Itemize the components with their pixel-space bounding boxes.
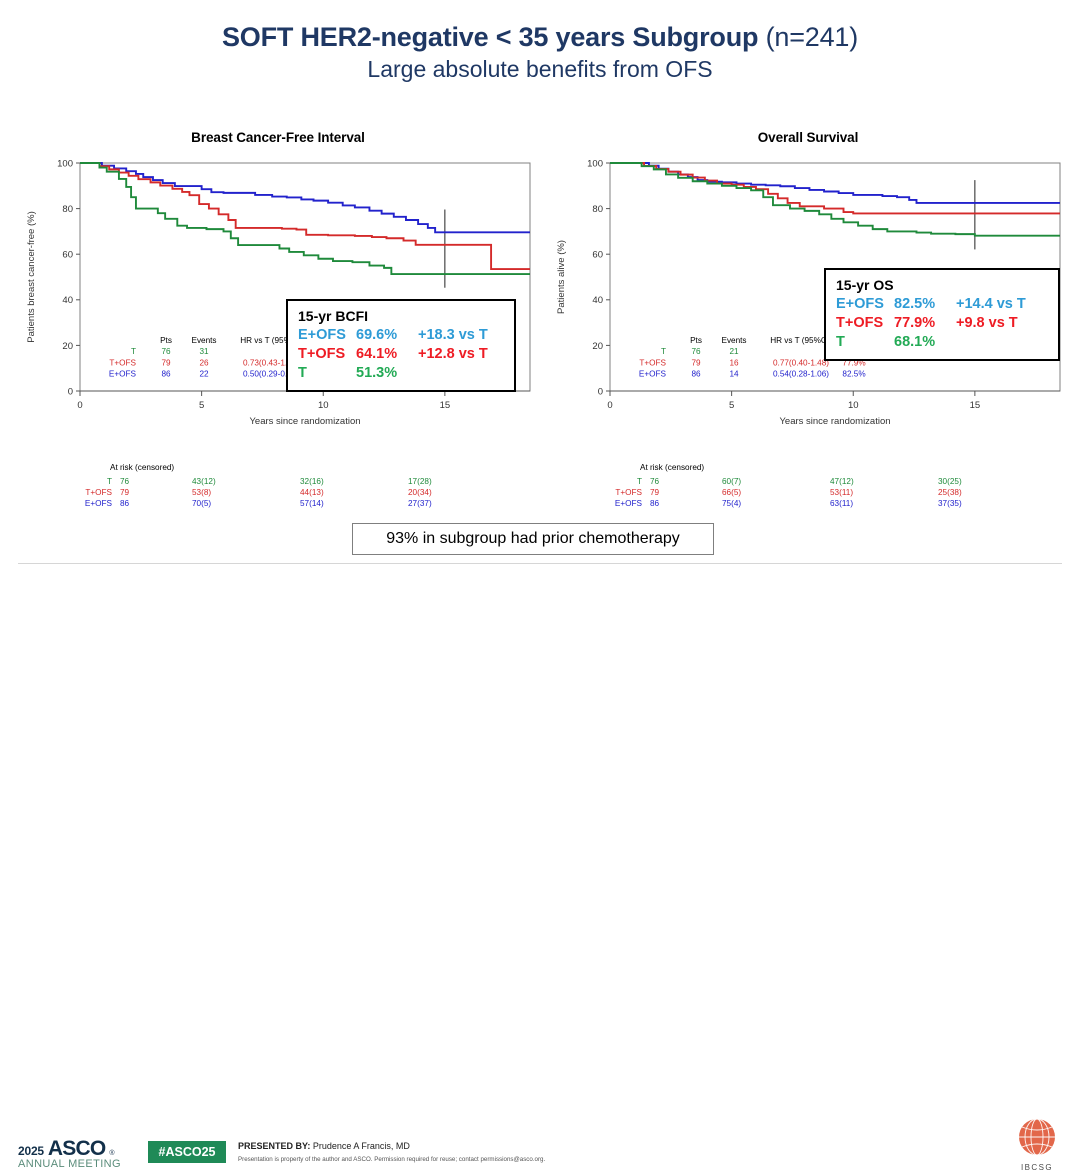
svg-text:10: 10	[318, 400, 329, 411]
at-risk-cell: 43(12)	[192, 476, 216, 487]
chemotherapy-note-banner: 93% in subgroup had prior chemotherapy	[352, 523, 714, 555]
svg-text:E+OFS: E+OFS	[639, 370, 667, 379]
callout-arm-label: T	[298, 364, 356, 383]
at-risk-cell: 44(13)	[300, 487, 324, 498]
callout-arm-delta: +9.8 vs T	[956, 314, 1048, 333]
at-risk-row: E+OFS 86 70(5) 57(14) 27(37)	[70, 498, 510, 509]
callout-arm-value: 69.6%	[356, 326, 418, 345]
page-subtitle: Large absolute benefits from OFS	[0, 54, 1080, 84]
slide-title-block: SOFT HER2-negative < 35 years Subgroup (…	[0, 20, 1080, 84]
callout-row: E+OFS 69.6% +18.3 vs T	[298, 326, 504, 345]
callout-arm-value: 82.5%	[894, 295, 956, 314]
at-risk-cell: 30(25)	[938, 476, 962, 487]
at-risk-cell: 79	[650, 487, 659, 498]
at-risk-cell: 75(4)	[722, 498, 741, 509]
at-risk-table-os: At risk (censored) T 76 60(7) 47(12) 30(…	[600, 462, 1040, 509]
callout-row: T+OFS 64.1% +12.8 vs T	[298, 345, 504, 364]
svg-text:40: 40	[62, 295, 73, 306]
svg-text:15: 15	[440, 400, 451, 411]
svg-text:86: 86	[161, 370, 171, 379]
callout-row: E+OFS 82.5% +14.4 vs T	[836, 295, 1048, 314]
presenter-name: Prudence A Francis, MD	[310, 1141, 410, 1151]
footer-divider	[18, 563, 1062, 564]
chart-panel-bcfi: Breast Cancer-Free Interval 020406080100…	[18, 130, 538, 460]
at-risk-cell: 60(7)	[722, 476, 741, 487]
callout-title-bcfi: 15-yr BCFI	[298, 307, 504, 326]
svg-text:10: 10	[848, 400, 859, 411]
svg-text:31: 31	[199, 347, 209, 356]
callout-arm-delta: +18.3 vs T	[418, 326, 504, 345]
chart-title-os: Overall Survival	[548, 130, 1068, 145]
svg-text:82.5%: 82.5%	[842, 370, 865, 379]
svg-text:80: 80	[592, 204, 603, 215]
svg-text:16: 16	[729, 358, 739, 367]
globe-icon	[1018, 1118, 1056, 1156]
svg-text:86: 86	[691, 370, 701, 379]
callout-box-bcfi: 15-yr BCFI E+OFS 69.6% +18.3 vs T T+OFS …	[286, 299, 516, 392]
at-risk-arm-label: T+OFS	[600, 487, 642, 498]
svg-text:HR vs T (95%CI): HR vs T (95%CI)	[770, 336, 832, 345]
callout-arm-value: 51.3%	[356, 364, 418, 383]
page-title: SOFT HER2-negative < 35 years Subgroup (…	[0, 20, 1080, 54]
callout-arm-label: T+OFS	[298, 345, 356, 364]
at-risk-arm-label: T	[600, 476, 642, 487]
at-risk-cell: 47(12)	[830, 476, 854, 487]
at-risk-cell: 25(38)	[938, 487, 962, 498]
svg-text:15: 15	[970, 400, 981, 411]
at-risk-cell: 76	[120, 476, 129, 487]
svg-text:0: 0	[68, 386, 73, 397]
at-risk-cell: 20(34)	[408, 487, 432, 498]
svg-text:79: 79	[691, 358, 701, 367]
svg-text:0: 0	[77, 400, 82, 411]
callout-title-os: 15-yr OS	[836, 276, 1048, 295]
chemotherapy-note-text: 93% in subgroup had prior chemotherapy	[386, 530, 680, 548]
at-risk-cell: 70(5)	[192, 498, 211, 509]
callout-arm-label: E+OFS	[298, 326, 356, 345]
at-risk-row: T+OFS 79 66(5) 53(11) 25(38)	[600, 487, 1040, 498]
footer-bar: 2025 ASCO ® ANNUAL MEETING #ASCO25 PRESE…	[0, 566, 1080, 608]
svg-text:Years since randomization: Years since randomization	[779, 416, 890, 427]
ibcsg-label: IBCSG	[1008, 1163, 1066, 1172]
svg-text:76: 76	[161, 347, 171, 356]
callout-arm-label: T+OFS	[836, 314, 894, 333]
asco-logo-subtitle: ANNUAL MEETING	[18, 1158, 138, 1170]
asco-logo-wordmark: ASCO	[48, 1138, 105, 1159]
at-risk-row: T 76 60(7) 47(12) 30(25)	[600, 476, 1040, 487]
at-risk-cell: 66(5)	[722, 487, 741, 498]
svg-text:0: 0	[598, 386, 603, 397]
at-risk-arm-label: T	[70, 476, 112, 487]
svg-text:Pts: Pts	[160, 336, 172, 345]
at-risk-cell: 53(11)	[830, 487, 853, 498]
presented-by-line: PRESENTED BY: Prudence A Francis, MD	[238, 1140, 758, 1152]
svg-text:Events: Events	[191, 336, 216, 345]
at-risk-header: At risk (censored)	[640, 462, 1040, 473]
callout-box-os: 15-yr OS E+OFS 82.5% +14.4 vs T T+OFS 77…	[824, 268, 1060, 361]
svg-text:100: 100	[587, 158, 603, 169]
callout-arm-value: 64.1%	[356, 345, 418, 364]
svg-text:14: 14	[729, 370, 739, 379]
at-risk-cell: 86	[650, 498, 659, 509]
svg-text:100: 100	[57, 158, 73, 169]
at-risk-cell: 32(16)	[300, 476, 324, 487]
callout-arm-value: 77.9%	[894, 314, 956, 333]
svg-text:Pts: Pts	[690, 336, 702, 345]
at-risk-row: E+OFS 86 75(4) 63(11) 37(35)	[600, 498, 1040, 509]
svg-text:5: 5	[199, 400, 204, 411]
at-risk-row: T 76 43(12) 32(16) 17(28)	[70, 476, 510, 487]
registered-trademark-icon: ®	[109, 1150, 114, 1157]
svg-text:T: T	[131, 347, 136, 356]
title-main-text: SOFT HER2-negative < 35 years Subgroup	[222, 22, 766, 52]
svg-text:Patients breast cancer-free (%: Patients breast cancer-free (%)	[26, 211, 37, 342]
at-risk-row: T+OFS 79 53(8) 44(13) 20(34)	[70, 487, 510, 498]
svg-text:26: 26	[199, 358, 209, 367]
svg-text:60: 60	[62, 250, 73, 261]
hashtag-badge-text: #ASCO25	[159, 1145, 216, 1159]
svg-text:22: 22	[199, 370, 209, 379]
svg-text:80: 80	[62, 204, 73, 215]
callout-arm-label: T	[836, 333, 894, 352]
at-risk-arm-label: E+OFS	[70, 498, 112, 509]
svg-text:21: 21	[729, 347, 739, 356]
at-risk-cell: 63(11)	[830, 498, 853, 509]
at-risk-cell: 76	[650, 476, 659, 487]
svg-text:76: 76	[691, 347, 701, 356]
at-risk-cell: 86	[120, 498, 129, 509]
asco-logo: 2025 ASCO ® ANNUAL MEETING	[18, 1138, 138, 1170]
presented-by-block: PRESENTED BY: Prudence A Francis, MD Pre…	[238, 1140, 758, 1165]
svg-text:T: T	[661, 347, 666, 356]
svg-text:20: 20	[592, 341, 603, 352]
callout-arm-delta: +14.4 vs T	[956, 295, 1048, 314]
at-risk-cell: 79	[120, 487, 129, 498]
at-risk-header: At risk (censored)	[110, 462, 510, 473]
svg-text:Years since randomization: Years since randomization	[249, 416, 360, 427]
at-risk-cell: 17(28)	[408, 476, 432, 487]
svg-text:E+OFS: E+OFS	[109, 370, 137, 379]
svg-text:60: 60	[592, 250, 603, 261]
callout-arm-delta	[418, 364, 504, 383]
chart-title-bcfi: Breast Cancer-Free Interval	[18, 130, 538, 145]
svg-text:T+OFS: T+OFS	[639, 358, 666, 367]
callout-arm-delta: +12.8 vs T	[418, 345, 504, 364]
svg-text:5: 5	[729, 400, 734, 411]
callout-arm-label: E+OFS	[836, 295, 894, 314]
svg-text:0.77(0.40-1.48): 0.77(0.40-1.48)	[773, 358, 829, 367]
svg-text:40: 40	[592, 295, 603, 306]
asco-logo-year: 2025	[18, 1144, 44, 1158]
svg-text:0: 0	[607, 400, 612, 411]
callout-arm-value: 68.1%	[894, 333, 956, 352]
at-risk-arm-label: E+OFS	[600, 498, 642, 509]
callout-row: T+OFS 77.9% +9.8 vs T	[836, 314, 1048, 333]
svg-text:20: 20	[62, 341, 73, 352]
svg-text:T+OFS: T+OFS	[109, 358, 136, 367]
callout-row: T 51.3%	[298, 364, 504, 383]
ibcsg-logo: IBCSG	[1008, 1118, 1066, 1172]
svg-text:79: 79	[161, 358, 171, 367]
svg-text:0.54(0.28-1.06): 0.54(0.28-1.06)	[773, 370, 829, 379]
callout-row: T 68.1%	[836, 333, 1048, 352]
at-risk-arm-label: T+OFS	[70, 487, 112, 498]
at-risk-cell: 57(14)	[300, 498, 324, 509]
callout-arm-delta	[956, 333, 1048, 352]
at-risk-table-bcfi: At risk (censored) T 76 43(12) 32(16) 17…	[70, 462, 510, 509]
copyright-disclaimer: Presentation is property of the author a…	[238, 1154, 758, 1165]
at-risk-cell: 53(8)	[192, 487, 211, 498]
title-n-count: (n=241)	[766, 22, 858, 52]
svg-text:Events: Events	[721, 336, 746, 345]
svg-text:Patients alive (%): Patients alive (%)	[556, 240, 567, 314]
hashtag-badge: #ASCO25	[148, 1141, 226, 1163]
at-risk-cell: 37(35)	[938, 498, 962, 509]
presented-by-label: PRESENTED BY:	[238, 1141, 310, 1151]
at-risk-cell: 27(37)	[408, 498, 432, 509]
